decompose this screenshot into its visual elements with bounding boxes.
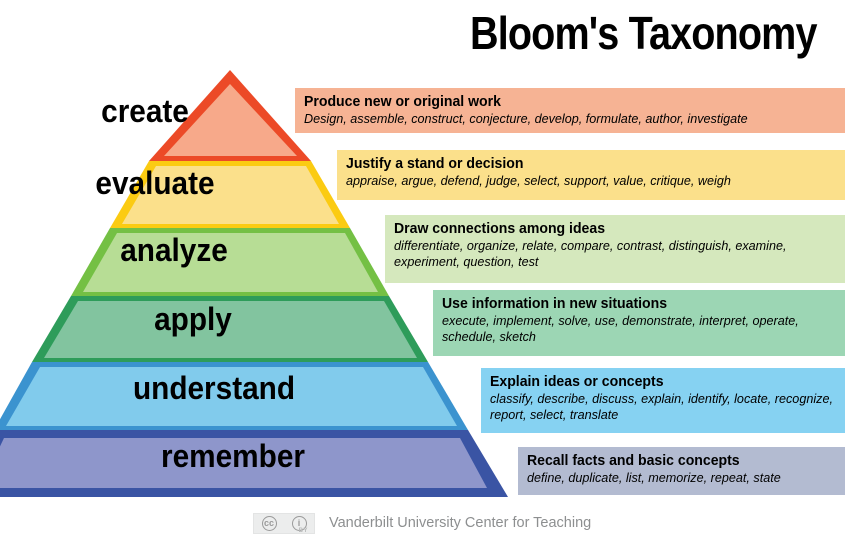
description-box-evaluate: Justify a stand or decision appraise, ar… bbox=[337, 150, 845, 200]
description-heading-evaluate: Justify a stand or decision bbox=[346, 155, 840, 173]
pyramid-label-evaluate: evaluate bbox=[11, 165, 299, 202]
pyramid-label-create: create bbox=[10, 93, 280, 130]
description-heading-apply: Use information in new situations bbox=[442, 295, 843, 313]
cc-by-label: BY bbox=[299, 528, 308, 534]
description-verbs-remember: define, duplicate, list, memorize, repea… bbox=[527, 470, 845, 486]
pyramid-label-understand: understand bbox=[15, 370, 413, 407]
cc-icon: cc bbox=[262, 516, 277, 531]
description-verbs-apply-2: schedule, sketch bbox=[442, 329, 843, 345]
pyramid-label-remember: remember bbox=[16, 438, 449, 475]
description-box-understand: Explain ideas or concepts classify, desc… bbox=[481, 368, 845, 433]
description-box-analyze: Draw connections among ideas differentia… bbox=[385, 215, 845, 283]
pyramid-label-analyze: analyze bbox=[12, 232, 336, 269]
description-verbs-understand-2: report, select, translate bbox=[490, 407, 844, 423]
description-heading-create: Produce new or original work bbox=[304, 93, 838, 111]
description-box-remember: Recall facts and basic concepts define, … bbox=[518, 447, 845, 495]
description-verbs-analyze-2: experiment, question, test bbox=[394, 254, 841, 270]
description-box-create: Produce new or original work Design, ass… bbox=[295, 88, 845, 133]
description-verbs-apply-1: execute, implement, solve, use, demonstr… bbox=[442, 313, 843, 329]
description-heading-understand: Explain ideas or concepts bbox=[490, 373, 844, 391]
description-box-apply: Use information in new situations execut… bbox=[433, 290, 845, 356]
description-verbs-evaluate: appraise, argue, defend, judge, select, … bbox=[346, 173, 840, 189]
description-heading-analyze: Draw connections among ideas bbox=[394, 220, 841, 238]
description-verbs-analyze-1: differentiate, organize, relate, compare… bbox=[394, 238, 841, 254]
attribution-text: Vanderbilt University Center for Teachin… bbox=[329, 515, 591, 531]
page-title: Bloom's Taxonomy bbox=[470, 6, 817, 60]
pyramid-label-apply: apply bbox=[14, 301, 373, 338]
footer-attribution: cc i BY Vanderbilt University Center for… bbox=[253, 512, 591, 534]
description-verbs-create: Design, assemble, construct, conjecture,… bbox=[304, 111, 838, 127]
description-verbs-understand-1: classify, describe, discuss, explain, id… bbox=[490, 391, 844, 407]
creative-commons-badge-icon: cc i BY bbox=[253, 513, 315, 534]
blooms-taxonomy-diagram: Bloom's Taxonomy bbox=[0, 0, 845, 540]
description-heading-remember: Recall facts and basic concepts bbox=[527, 452, 845, 470]
